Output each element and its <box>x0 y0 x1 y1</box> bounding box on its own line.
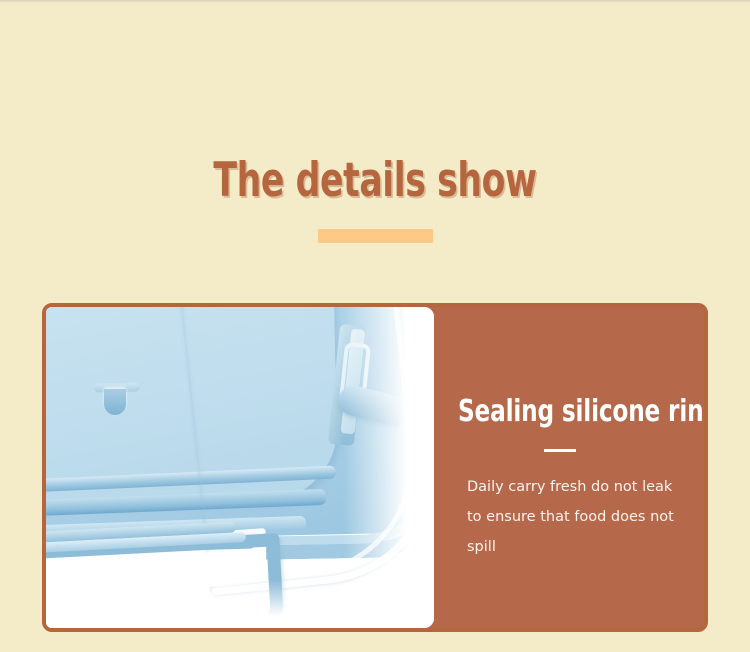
title-accent-bar <box>318 229 433 243</box>
product-detail-page: The details show <box>0 0 750 652</box>
page-title: The details show <box>68 155 683 207</box>
detail-card: Sealing silicone ring Daily carry fresh … <box>42 303 708 632</box>
feature-heading: Sealing silicone ring <box>458 395 708 429</box>
product-photo <box>46 307 434 628</box>
image-seam-divider <box>0 0 750 3</box>
feature-copy-panel: Sealing silicone ring Daily carry fresh … <box>434 307 708 628</box>
lid-notch-shape <box>104 389 126 415</box>
feature-divider <box>544 449 576 452</box>
photo-bottom-fade <box>46 580 434 628</box>
photo-canvas <box>46 307 434 628</box>
section-header: The details show <box>0 155 750 243</box>
feature-description: Daily carry fresh do not leak to ensure … <box>467 472 689 562</box>
